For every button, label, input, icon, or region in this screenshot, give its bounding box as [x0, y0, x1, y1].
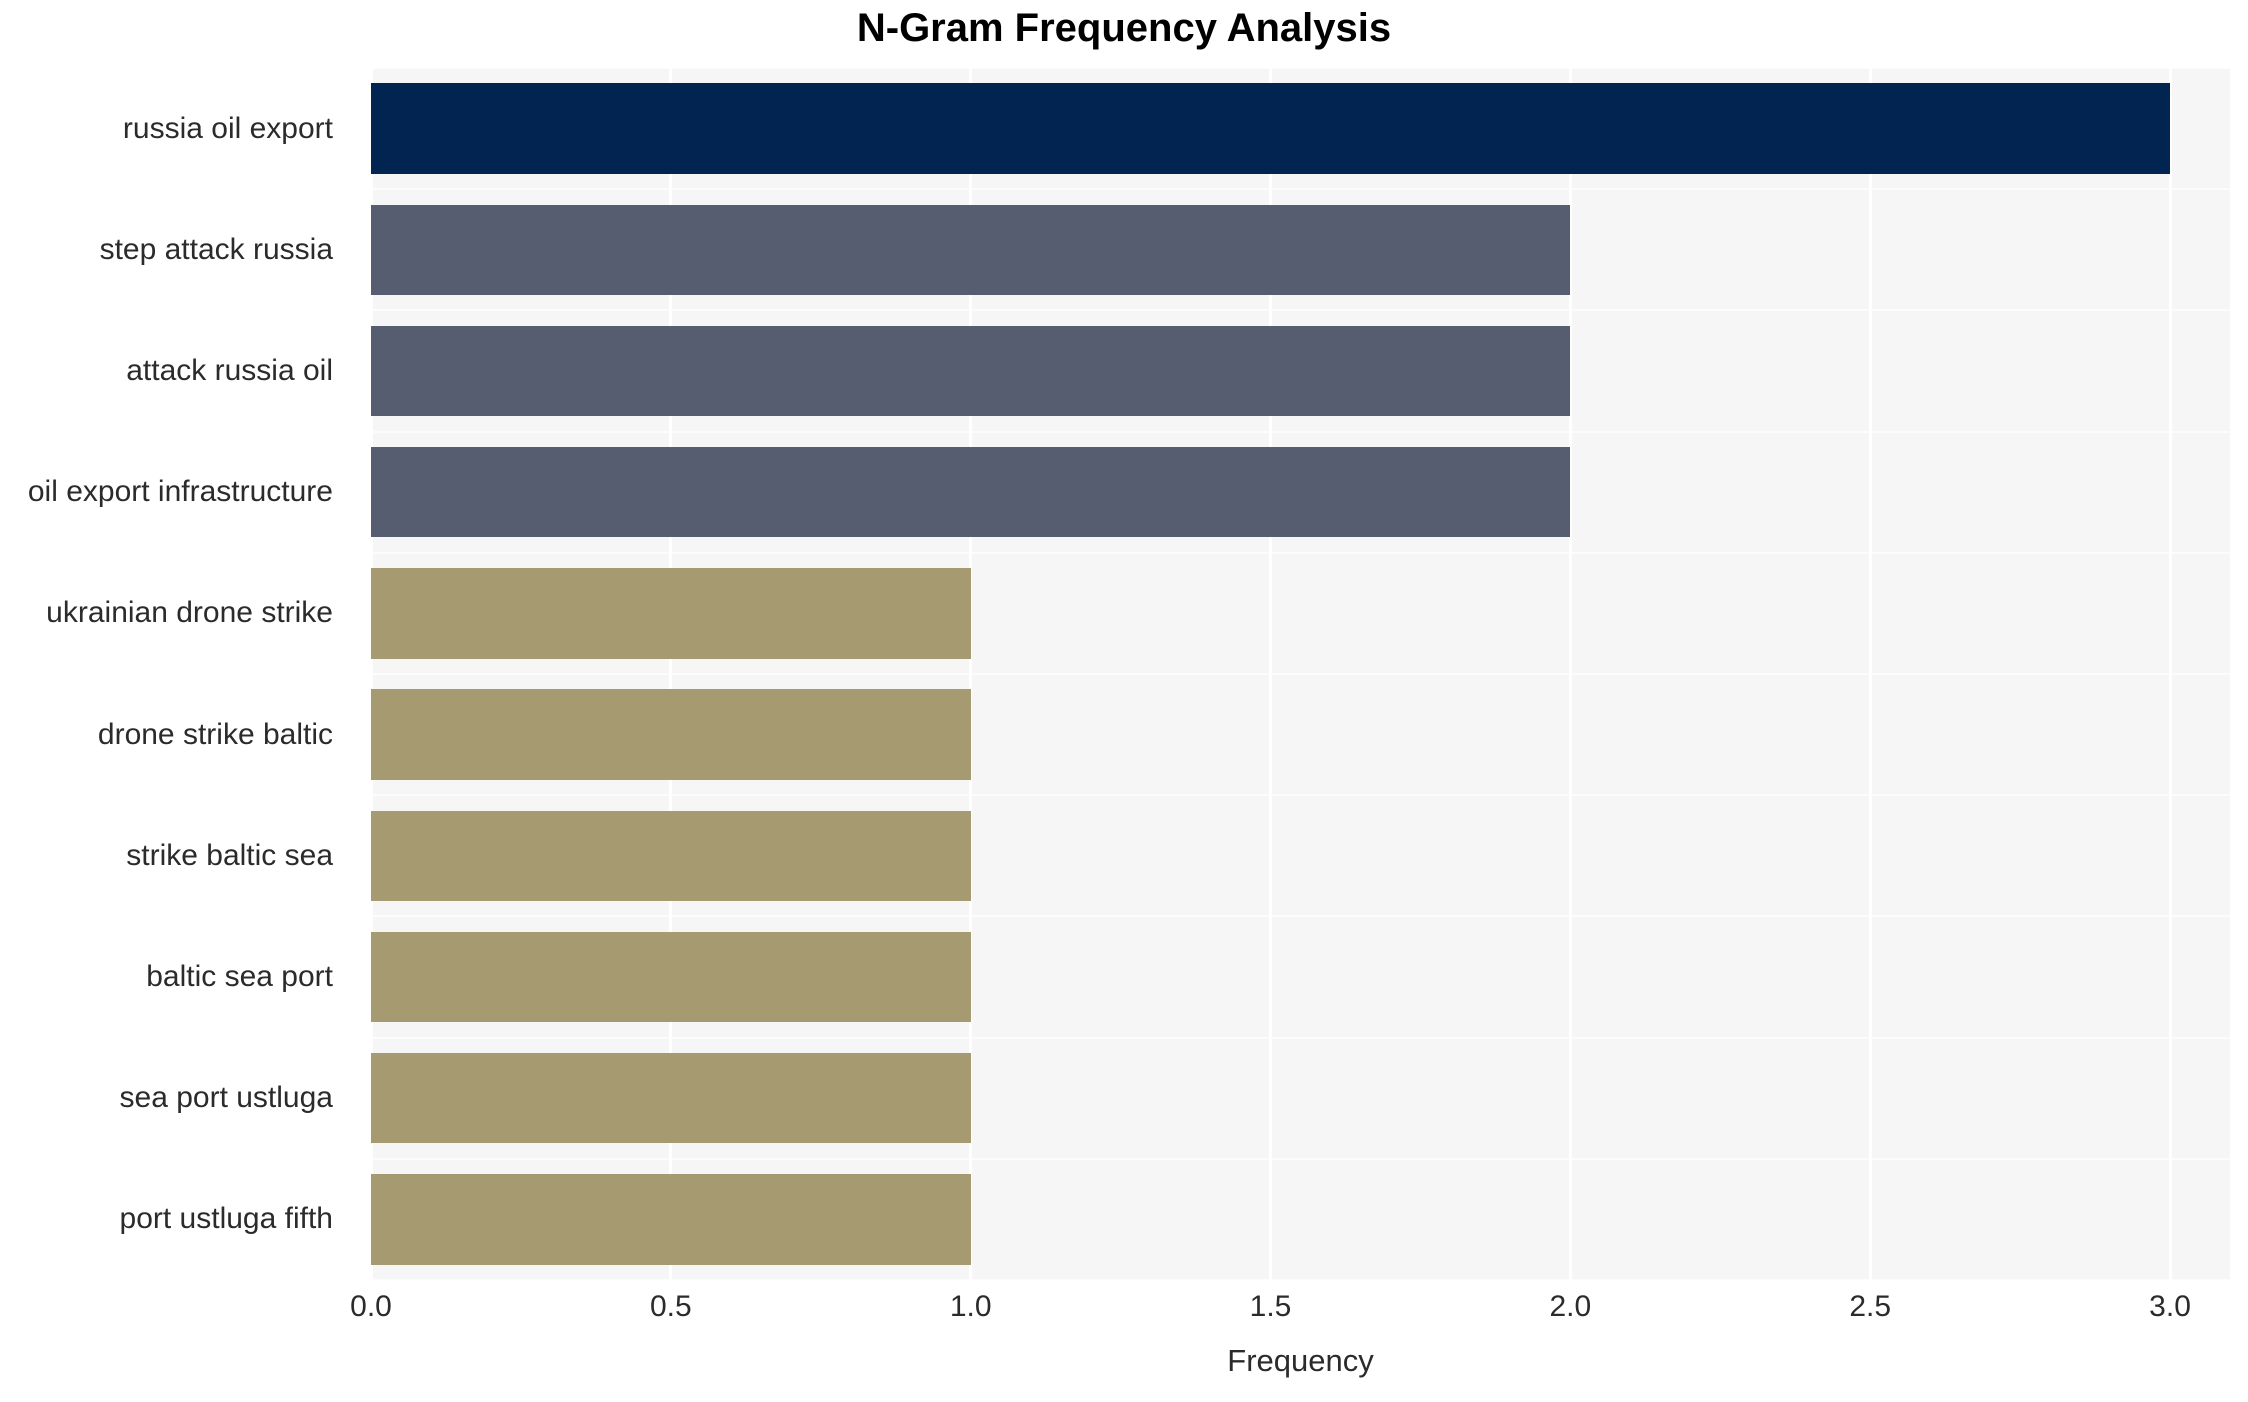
x-axis-tick-label: 1.5	[1250, 1292, 1292, 1322]
y-gridline	[371, 188, 2230, 190]
x-axis-tick-label: 2.0	[1549, 1292, 1591, 1322]
bar[interactable]	[371, 811, 971, 901]
x-axis-tick-label: 3.0	[2149, 1292, 2191, 1322]
y-gridline	[371, 1037, 2230, 1039]
y-gridline	[371, 673, 2230, 675]
x-axis-tick-label: 2.5	[1849, 1292, 1891, 1322]
y-axis-tick-label: sea port ustluga	[0, 1083, 352, 1113]
y-gridline	[371, 1279, 2230, 1280]
y-axis-tick-label: strike baltic sea	[0, 841, 352, 871]
y-axis-tick-label: ukrainian drone strike	[0, 598, 352, 628]
y-axis-tick-label: baltic sea port	[0, 962, 352, 992]
chart-figure: N-Gram Frequency Analysis russia oil exp…	[0, 0, 2248, 1402]
plot-area	[371, 68, 2230, 1280]
y-axis-tick-label: port ustluga fifth	[0, 1204, 352, 1234]
bar[interactable]	[371, 568, 971, 658]
bar[interactable]	[371, 326, 1570, 416]
bar[interactable]	[371, 1053, 971, 1143]
y-gridline	[371, 309, 2230, 311]
y-axis-tick-label: drone strike baltic	[0, 720, 352, 750]
y-axis-tick-label: step attack russia	[0, 235, 352, 265]
y-gridline	[371, 68, 2230, 69]
y-gridline	[371, 794, 2230, 796]
y-axis-tick-label: russia oil export	[0, 114, 352, 144]
x-axis-label: Frequency	[371, 1343, 2230, 1379]
y-gridline	[371, 431, 2230, 433]
bar[interactable]	[371, 205, 1570, 295]
bar[interactable]	[371, 1174, 971, 1264]
y-gridline	[371, 915, 2230, 917]
x-axis-tick-label: 0.0	[350, 1292, 392, 1322]
bar[interactable]	[371, 447, 1570, 537]
y-axis-tick-labels: russia oil exportstep attack russiaattac…	[0, 0, 352, 1402]
bar[interactable]	[371, 83, 2170, 173]
x-axis-tick-label: 1.0	[950, 1292, 992, 1322]
y-axis-tick-label: oil export infrastructure	[0, 477, 352, 507]
bar[interactable]	[371, 689, 971, 779]
x-axis-tick-label: 0.5	[650, 1292, 692, 1322]
y-gridline	[371, 1158, 2230, 1160]
y-gridline	[371, 552, 2230, 554]
y-axis-tick-label: attack russia oil	[0, 356, 352, 386]
x-axis-tick-labels: 0.00.51.01.52.02.53.0	[0, 1292, 2248, 1342]
bar[interactable]	[371, 932, 971, 1022]
